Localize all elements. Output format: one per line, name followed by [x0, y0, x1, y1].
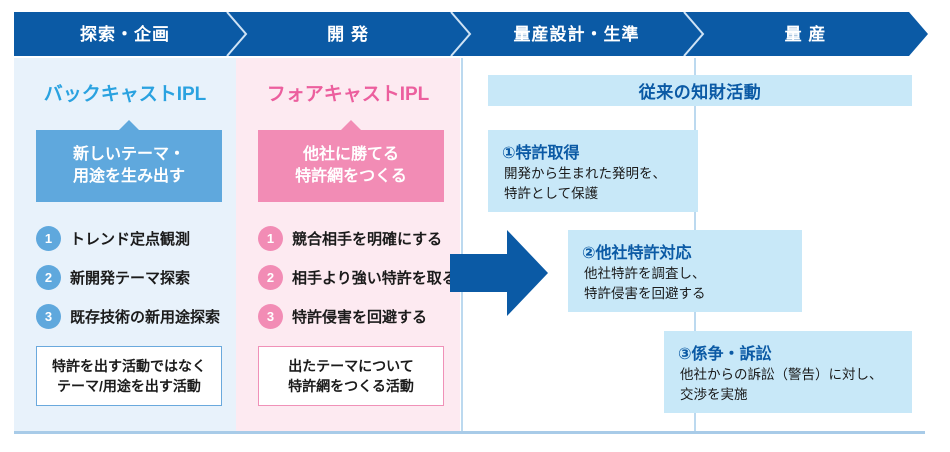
phase-label-3: 量産設計・生準	[460, 24, 693, 46]
forecast-note: 出たテーマについて 特許網をつくる活動	[258, 346, 444, 406]
backcast-step-1: 1 トレンド定点観測	[36, 225, 190, 251]
backcast-callout-notch-icon	[119, 120, 139, 130]
ip-activity-box-1: ①特許取得 開発から生まれた発明を、 特許として保護	[488, 130, 698, 212]
backcast-step-1-badge: 1	[36, 226, 61, 251]
forecast-step-2: 2 相手より強い特許を取る	[258, 264, 457, 290]
ip-activity-box-3-heading: ③係争・訴訟	[678, 340, 772, 364]
forecast-step-2-label: 相手より強い特許を取る	[292, 267, 457, 288]
forecast-step-1-label: 競合相手を明確にする	[292, 228, 442, 249]
backcast-step-2-label: 新開発テーマ探索	[70, 267, 190, 288]
forecast-step-3-label: 特許侵害を回避する	[292, 306, 427, 327]
backcast-step-2: 2 新開発テーマ探索	[36, 264, 190, 290]
phase-header: 探索・企画 開 発 量産設計・生準 量 産	[14, 12, 928, 56]
backcast-callout: 新しいテーマ・ 用途を生み出す	[36, 130, 222, 202]
backcast-step-3-badge: 3	[36, 304, 61, 329]
forecast-callout: 他社に勝てる 特許網をつくる	[258, 130, 444, 202]
ip-activity-box-1-heading: ①特許取得	[502, 139, 580, 163]
conventional-banner-text: 従来の知財活動	[639, 78, 762, 103]
forecast-title: フォアキャストIPL	[236, 82, 460, 108]
forecast-step-2-badge: 2	[258, 265, 283, 290]
flow-arrow-right-icon	[450, 230, 548, 316]
backcast-callout-text: 新しいテーマ・ 用途を生み出す	[73, 144, 185, 188]
phase-label-4: 量 産	[693, 24, 918, 46]
forecast-step-3: 3 特許侵害を回避する	[258, 303, 427, 329]
ip-activity-box-3-body: 他社からの訴訟（警告）に対し、 交渉を実施	[680, 365, 883, 406]
forecast-callout-notch-icon	[341, 120, 361, 130]
ip-activity-box-2: ②他社特許対応 他社特許を調査し、 特許侵害を回避する	[568, 230, 802, 312]
forecast-step-1: 1 競合相手を明確にする	[258, 225, 442, 251]
forecast-note-text: 出たテーマについて 特許網をつくる活動	[288, 356, 414, 397]
forecast-step-3-badge: 3	[258, 304, 283, 329]
ip-activity-box-3: ③係争・訴訟 他社からの訴訟（警告）に対し、 交渉を実施	[664, 331, 912, 413]
conventional-banner: 従来の知財活動	[488, 75, 912, 106]
ip-activity-box-2-heading: ②他社特許対応	[582, 239, 692, 263]
backcast-note-text: 特許を出す活動ではなく テーマ/用途を出す活動	[52, 356, 206, 397]
backcast-step-1-label: トレンド定点観測	[70, 228, 190, 249]
backcast-step-2-badge: 2	[36, 265, 61, 290]
forecast-callout-text: 他社に勝てる 特許網をつくる	[295, 144, 407, 188]
ip-activity-box-1-body: 開発から生まれた発明を、 特許として保護	[504, 164, 666, 205]
backcast-title: バックキャストIPL	[14, 82, 236, 108]
ip-activity-box-2-body: 他社特許を調査し、 特許侵害を回避する	[584, 264, 706, 305]
phase-label-2: 開 発	[236, 24, 460, 46]
backcast-step-3-label: 既存技術の新用途探索	[70, 306, 220, 327]
forecast-step-1-badge: 1	[258, 226, 283, 251]
backcast-note: 特許を出す活動ではなく テーマ/用途を出す活動	[36, 346, 222, 406]
bottom-rule	[14, 431, 925, 434]
phase-label-1: 探索・企画	[14, 24, 236, 46]
diagram-canvas: 探索・企画 開 発 量産設計・生準 量 産 バックキャストIPL 新しいテーマ・…	[0, 0, 950, 452]
backcast-step-3: 3 既存技術の新用途探索	[36, 303, 220, 329]
